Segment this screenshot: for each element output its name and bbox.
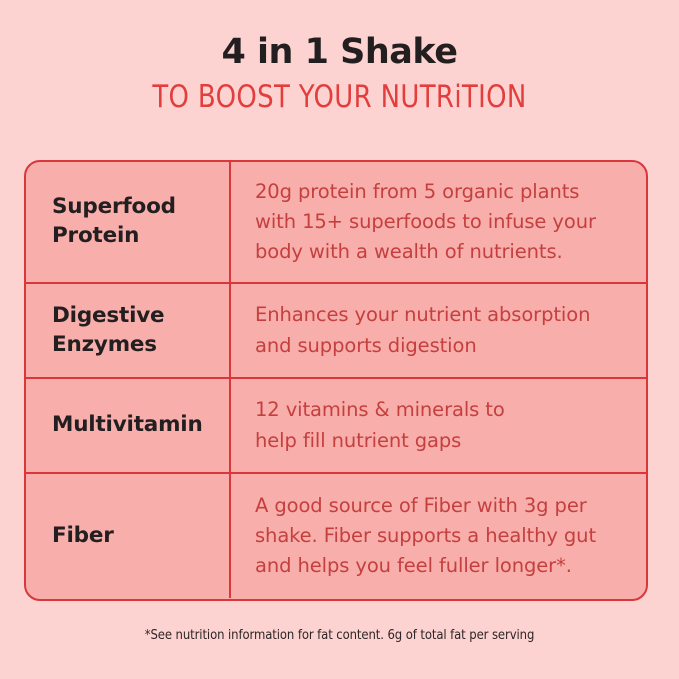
row-description-cell: A good source of Fiber with 3g per shake… [231,474,646,598]
row-label-line: Multivitamin [52,411,221,440]
row-description-line: 12 vitamins & minerals to [255,395,632,425]
row-label-line: Fiber [52,522,221,551]
row-description-line: body with a wealth of nutrients. [255,237,632,267]
row-label-cell: Digestive Enzymes [26,284,231,377]
table-row: Fiber A good source of Fiber with 3g per… [26,472,646,598]
row-label-line: Enzymes [52,331,221,360]
row-description-line: Enhances your nutrient absorption [255,300,632,330]
page-subtitle: TO BOOST YOUR NUTRiTION [24,80,655,116]
row-description-line: help fill nutrient gaps [255,426,632,456]
row-description-line: and helps you feel fuller longer*. [255,551,632,581]
footnote: *See nutrition information for fat conte… [14,627,666,643]
row-description-line: A good source of Fiber with 3g per [255,491,632,521]
table-row: Digestive Enzymes Enhances your nutrient… [26,282,646,377]
row-description-line: 20g protein from 5 organic plants [255,177,632,207]
row-label-line: Superfood [52,193,221,222]
table-row: Superfood Protein 20g protein from 5 org… [26,162,646,282]
benefits-table: Superfood Protein 20g protein from 5 org… [24,160,648,601]
row-description-cell: 20g protein from 5 organic plants with 1… [231,162,646,282]
row-label-cell: Multivitamin [26,379,231,472]
row-description-line: shake. Fiber supports a healthy gut [255,521,632,551]
row-description-cell: Enhances your nutrient absorption and su… [231,284,646,377]
table-row: Multivitamin 12 vitamins & minerals to h… [26,377,646,472]
row-description-line: and supports digestion [255,331,632,361]
header: 4 in 1 Shake TO BOOST YOUR NUTRiTION [0,0,679,116]
row-description-line: with 15+ superfoods to infuse your [255,207,632,237]
row-label-cell: Fiber [26,474,231,598]
row-label-line: Digestive [52,302,221,331]
row-label-line: Protein [52,222,221,251]
row-label-cell: Superfood Protein [26,162,231,282]
infographic-page: 4 in 1 Shake TO BOOST YOUR NUTRiTION Sup… [0,0,679,679]
page-title: 4 in 1 Shake [0,33,679,72]
row-description-cell: 12 vitamins & minerals to help fill nutr… [231,379,646,472]
